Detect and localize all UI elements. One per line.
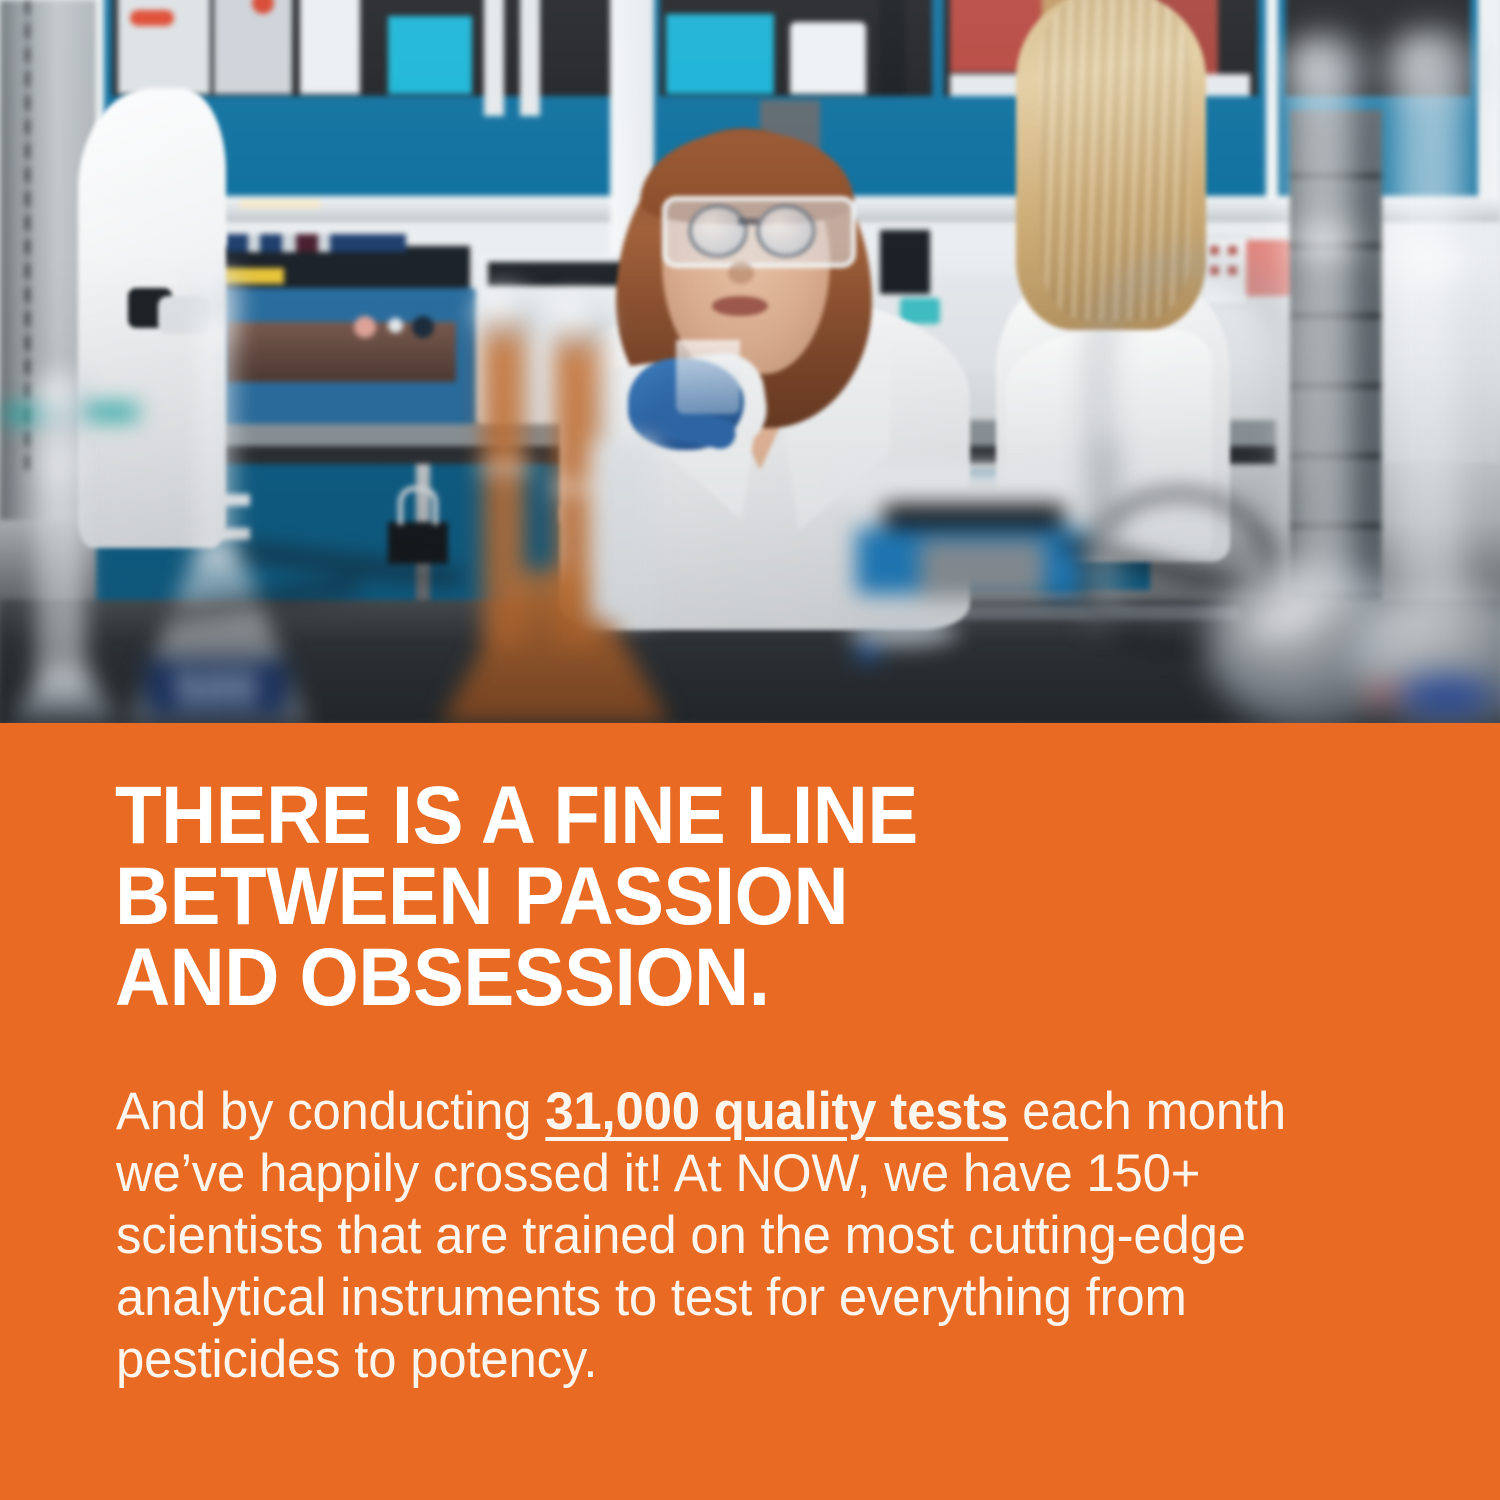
lab-photo: 500 bbox=[0, 0, 1500, 723]
photo-color-grade bbox=[0, 0, 1500, 723]
page-headline: THERE IS A FINE LINE BETWEEN PASSION AND… bbox=[115, 775, 1315, 1019]
orange-content-panel: THERE IS A FINE LINE BETWEEN PASSION AND… bbox=[0, 723, 1500, 1500]
body-paragraph: And by conducting 31,000 quality tests e… bbox=[116, 1081, 1343, 1391]
headline-line-2: BETWEEN PASSION bbox=[115, 856, 1315, 937]
body-emphasis-quality-tests: 31,000 quality tests bbox=[545, 1082, 1008, 1141]
body-text-before: And by conducting bbox=[116, 1082, 545, 1141]
headline-line-3: AND OBSESSION. bbox=[115, 937, 1315, 1018]
poster-root: 500 bbox=[0, 0, 1500, 1500]
headline-line-1: THERE IS A FINE LINE bbox=[115, 775, 1315, 856]
